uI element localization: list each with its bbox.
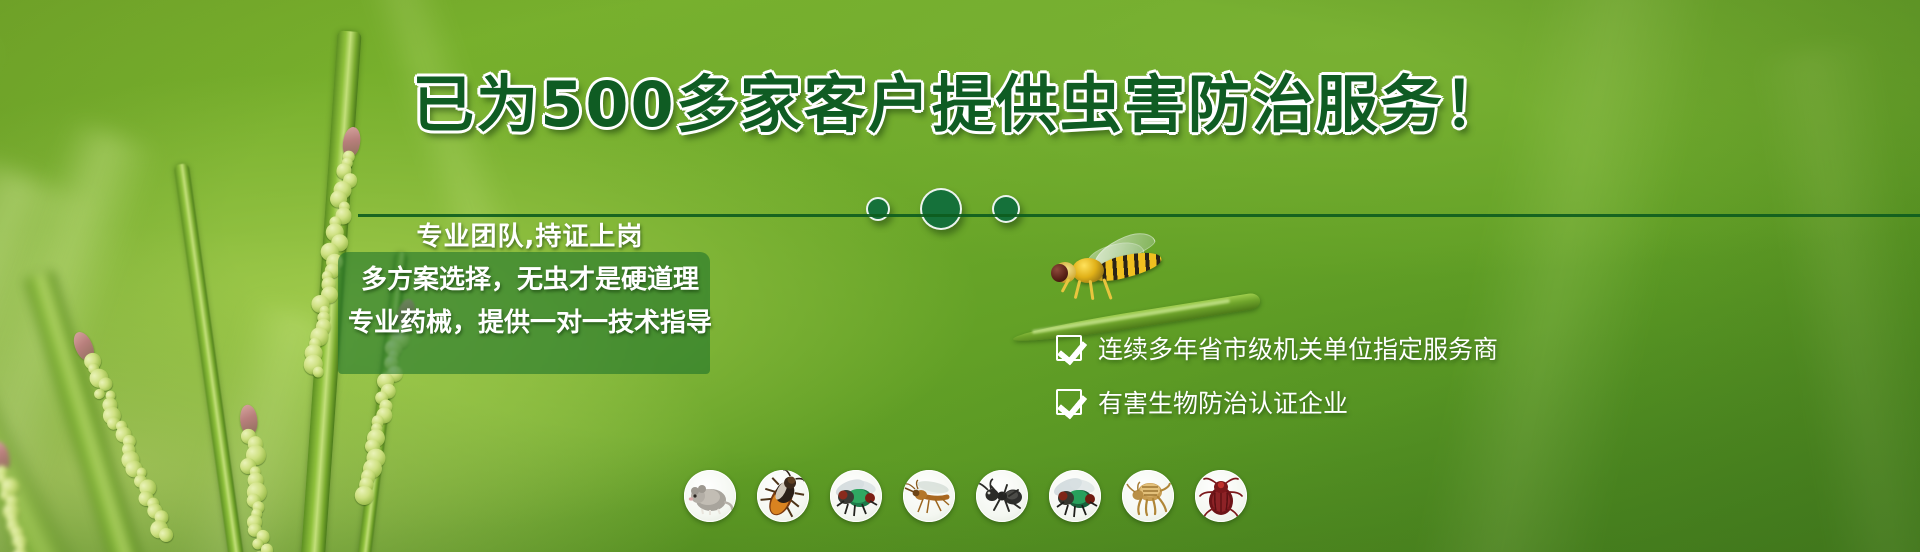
- pest-icon-mosquito[interactable]: [903, 470, 955, 522]
- flea-icon: [1122, 470, 1174, 522]
- checklist-item: 连续多年省市级机关单位指定服务商: [1056, 330, 1498, 366]
- check-box-icon: [1056, 389, 1082, 415]
- check-box-icon: [1056, 335, 1082, 361]
- banner-headline: 已为500多家客户提供虫害防治服务！: [0, 74, 1920, 136]
- ant-icon: [976, 470, 1028, 522]
- dot-medium-icon: [992, 195, 1020, 223]
- pest-icon-mouse[interactable]: [684, 470, 736, 522]
- blowfly-icon: [1049, 470, 1101, 522]
- pest-icon-bedbug[interactable]: [1195, 470, 1247, 522]
- fly-leg: [1074, 280, 1082, 299]
- decorative-dots: [866, 188, 1020, 230]
- fly-eye: [1051, 264, 1068, 282]
- dot-large-icon: [920, 188, 962, 230]
- pest-icon-fly[interactable]: [830, 470, 882, 522]
- fly-leg: [1102, 278, 1112, 300]
- pest-icon-ant[interactable]: [976, 470, 1028, 522]
- pest-control-banner: 已为500多家客户提供虫害防治服务！ 专业团队,持证上岗 多方案选择，无虫才是硬…: [0, 0, 1920, 552]
- flower-spike: [235, 419, 275, 552]
- pest-icon-row: [684, 470, 1247, 522]
- fly-leg: [1089, 280, 1095, 300]
- pest-icon-cockroach[interactable]: [757, 470, 809, 522]
- pest-icon-blowfly[interactable]: [1049, 470, 1101, 522]
- fly-thorax: [1072, 258, 1104, 283]
- hoverfly-illustration: [1046, 242, 1164, 300]
- checklist-item-label: 有害生物防治认证企业: [1098, 384, 1348, 420]
- bedbug-icon: [1195, 470, 1247, 522]
- slogan-line-1: 专业团队,持证上岗: [417, 216, 644, 253]
- slogan-line-2: 多方案选择，无虫才是硬道理: [361, 259, 699, 296]
- dot-small-icon: [866, 197, 890, 221]
- pest-icon-flea[interactable]: [1122, 470, 1174, 522]
- checklist-item-label: 连续多年省市级机关单位指定服务商: [1098, 330, 1498, 366]
- checklist-item: 有害生物防治认证企业: [1056, 384, 1498, 420]
- credentials-checklist: 连续多年省市级机关单位指定服务商 有害生物防治认证企业: [1056, 330, 1498, 420]
- plant-stem: [174, 163, 247, 552]
- slogan-line-3: 专业药械，提供一对一技术指导: [348, 302, 712, 339]
- slogan-list: 专业团队,持证上岗 多方案选择，无虫才是硬道理 专业药械，提供一对一技术指导: [330, 216, 730, 339]
